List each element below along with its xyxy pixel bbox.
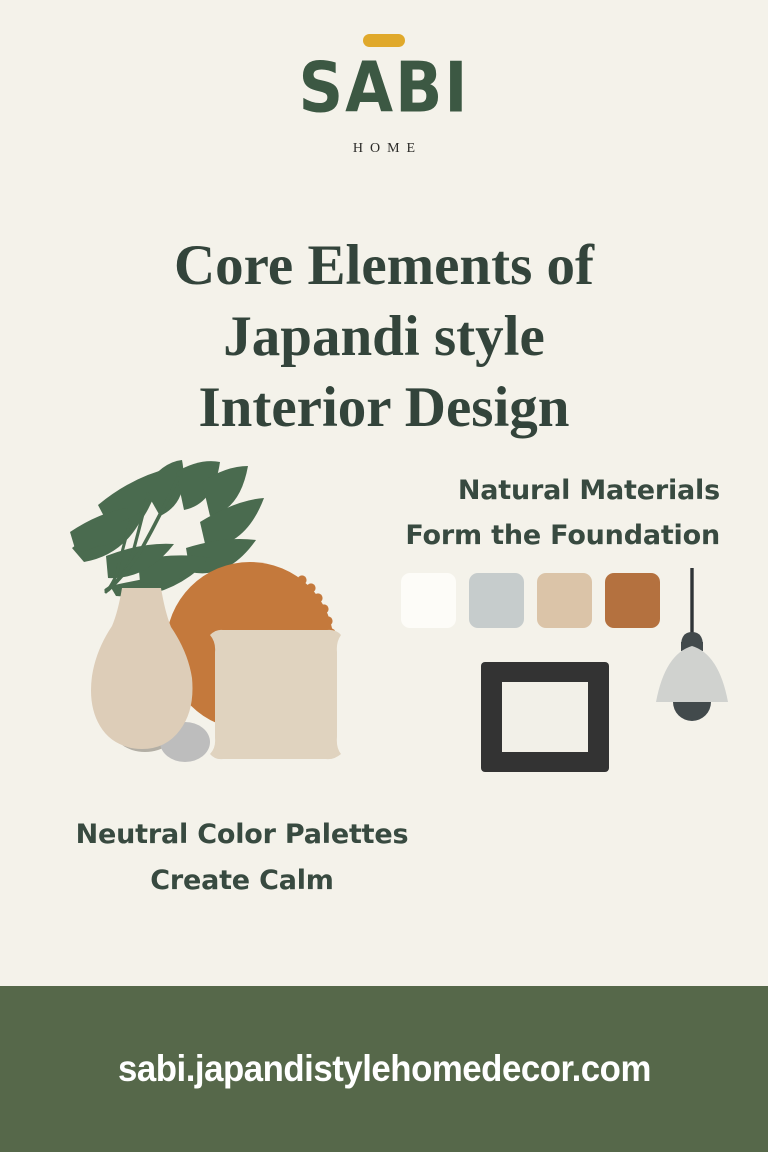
picture-frame-mat: [502, 682, 588, 752]
picture-frame-icon: [481, 662, 609, 772]
headline-line-3: Interior Design: [0, 372, 768, 443]
pendant-lamp-icon: [652, 568, 732, 740]
square-linen-cushion-icon: [210, 630, 341, 759]
caption-left-line-1: Neutral Color Palettes: [42, 812, 442, 858]
caption-neutral-palettes: Neutral Color Palettes Create Calm: [42, 812, 442, 904]
brand-subtitle: HOME: [0, 141, 768, 157]
website-url[interactable]: sabi.japandistylehomedecor.com: [118, 1048, 651, 1090]
headline-line-2: Japandi style: [0, 301, 768, 372]
material-swatch-row: [401, 573, 660, 628]
footer-band: sabi.japandistylehomedecor.com: [0, 986, 768, 1152]
swatch-off-white: [401, 573, 456, 628]
japandi-still-life-illustration: [50, 460, 380, 790]
caption-left-line-2: Create Calm: [42, 858, 442, 904]
page-title: Core Elements of Japandi style Interior …: [0, 230, 768, 443]
swatch-warm-sand: [537, 573, 592, 628]
swatch-soft-grey: [469, 573, 524, 628]
brand-accent-bar: [363, 34, 405, 47]
pin-canvas: SABI HOME Core Elements of Japandi style…: [0, 0, 768, 1152]
headline-line-1: Core Elements of: [0, 230, 768, 301]
brand-logo: SABI HOME: [0, 28, 768, 157]
brand-name: SABI: [0, 51, 768, 125]
